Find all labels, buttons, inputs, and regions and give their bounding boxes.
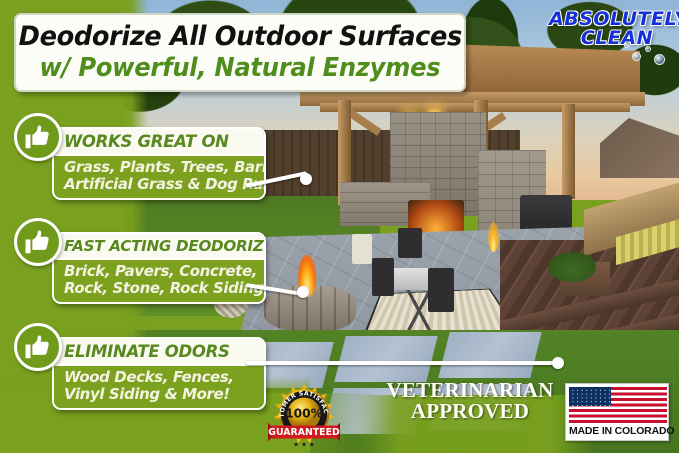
bubble-icon	[624, 43, 629, 48]
paver-stone	[334, 336, 437, 382]
callout-body: Grass, Plants, Trees, Bark, Artificial G…	[54, 154, 264, 198]
callout-heading: ELIMINATE ODORS	[54, 339, 264, 364]
callout-heading: FAST ACTING DEODORIZER	[54, 234, 264, 258]
seal-graphic: CUSTOMER SATISFACTION 100% GUARANTEED ★ …	[268, 378, 340, 450]
seal-ribbon-text: GUARANTEED	[268, 427, 340, 438]
bubble-icon	[645, 46, 651, 52]
seal-stars: ★ ★ ★	[293, 440, 315, 448]
callout-heading: WORKS GREAT ON	[54, 129, 264, 154]
headline-box: Deodorize All Outdoor Surfaces w/ Powerf…	[14, 13, 466, 92]
thumbs-up-icon	[23, 332, 53, 362]
bubble-icon	[654, 54, 665, 65]
brand-logo-line-2: CLEAN	[549, 29, 653, 48]
thumbs-up-badge	[14, 323, 62, 371]
thumbs-up-badge	[14, 113, 62, 161]
patio-chair-right	[428, 268, 454, 312]
brand-logo: ABSOLUTELY CLEAN	[549, 10, 671, 68]
thumbs-up-icon	[23, 227, 53, 257]
fireplace-flame	[488, 222, 499, 252]
satisfaction-guarantee-seal: CUSTOMER SATISFACTION 100% GUARANTEED ★ …	[268, 378, 340, 450]
veterinarian-approved-badge: VETERINARIAN APPROVED	[385, 380, 555, 423]
callout-body-line-1: Brick, Pavers, Concrete,	[64, 263, 256, 280]
callout-pointer-dot-1	[300, 173, 312, 185]
callout-pointer-dot-2	[297, 286, 309, 298]
callout-box: FAST ACTING DEODORIZER Brick, Pavers, Co…	[52, 232, 266, 304]
patio-chair-far	[398, 228, 422, 258]
product-ad-banner: Deodorize All Outdoor Surfaces w/ Powerf…	[0, 0, 679, 453]
bubble-icon	[632, 52, 641, 61]
vet-line-1: VETERINARIAN	[385, 380, 555, 401]
callout-pointer-dot-3	[552, 357, 564, 369]
headline-line-2: w/ Powerful, Natural Enzymes	[40, 54, 441, 82]
made-in-colorado-badge: MADE IN COLORADO	[565, 383, 669, 441]
paver-stone	[438, 332, 541, 378]
planter-shrub	[548, 252, 596, 282]
callout-body-line-2: Vinyl Siding & More!	[64, 386, 256, 403]
us-flag-icon	[569, 387, 667, 423]
patio-chair-left	[372, 258, 394, 296]
callout-body-line-2: Rock, Stone, Rock Siding	[64, 280, 256, 297]
pavilion-post-right	[562, 104, 575, 199]
callout-body-line-1: Wood Decks, Fences,	[64, 369, 256, 386]
flag-canton	[569, 387, 611, 406]
headline-line-1: Deodorize All Outdoor Surfaces	[18, 23, 461, 51]
thumbs-up-badge	[14, 218, 62, 266]
bar-stool	[352, 234, 372, 264]
callout-body-line-2: Artificial Grass & Dog Runs	[64, 176, 256, 193]
callout-body: Wood Decks, Fences, Vinyl Siding & More!	[54, 364, 264, 408]
vet-line-2: APPROVED	[385, 401, 555, 422]
made-in-colorado-label: MADE IN COLORADO	[569, 425, 665, 437]
seal-percent: 100%	[285, 407, 323, 421]
callout-body: Brick, Pavers, Concrete, Rock, Stone, Ro…	[54, 258, 264, 302]
callout-box: WORKS GREAT ON Grass, Plants, Trees, Bar…	[52, 127, 266, 200]
callout-pointer-line-3	[246, 361, 562, 365]
callout-body-line-1: Grass, Plants, Trees, Bark,	[64, 159, 256, 176]
callout-box: ELIMINATE ODORS Wood Decks, Fences, Viny…	[52, 337, 266, 410]
thumbs-up-icon	[23, 122, 53, 152]
